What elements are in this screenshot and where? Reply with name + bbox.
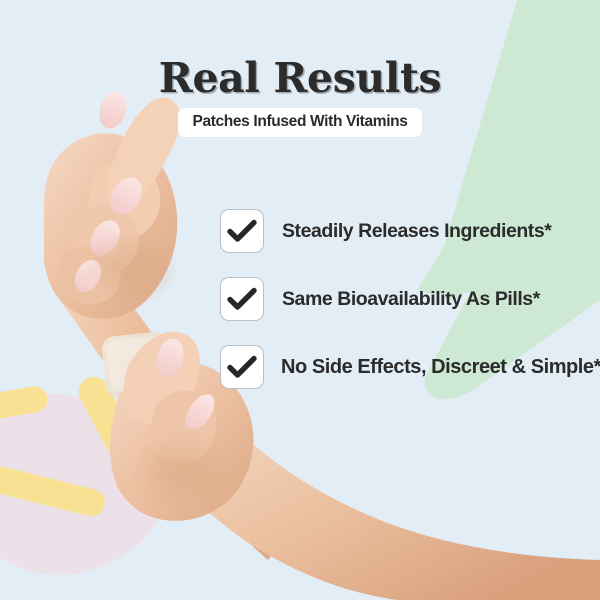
checklist-item-label: Steadily Releases Ingredients* [282,220,551,243]
checklist-item-label: No Side Effects, Discreet & Simple* [281,356,600,379]
checklist-item[interactable]: No Side Effects, Discreet & Simple* [220,344,600,390]
checkbox-checked-icon[interactable] [220,209,264,253]
lower-hand-shading [130,430,234,510]
page-title: Real Results [0,54,600,102]
checklist-item[interactable]: Steadily Releases Ingredients* [220,208,600,254]
subtitle-badge: Patches Infused With Vitamins [178,108,421,137]
promo-graphic: Real Results Patches Infused With Vitami… [0,0,600,600]
checklist-item-label: Same Bioavailability As Pills* [282,288,540,311]
checkbox-checked-icon[interactable] [220,277,264,321]
checkbox-checked-icon[interactable] [220,345,264,389]
fist-shading [84,228,180,308]
checklist-item[interactable]: Same Bioavailability As Pills* [220,276,600,322]
subtitle-badge-wrap: Patches Infused With Vitamins [0,108,600,137]
benefits-checklist: Steadily Releases Ingredients* Same Bioa… [220,208,600,390]
